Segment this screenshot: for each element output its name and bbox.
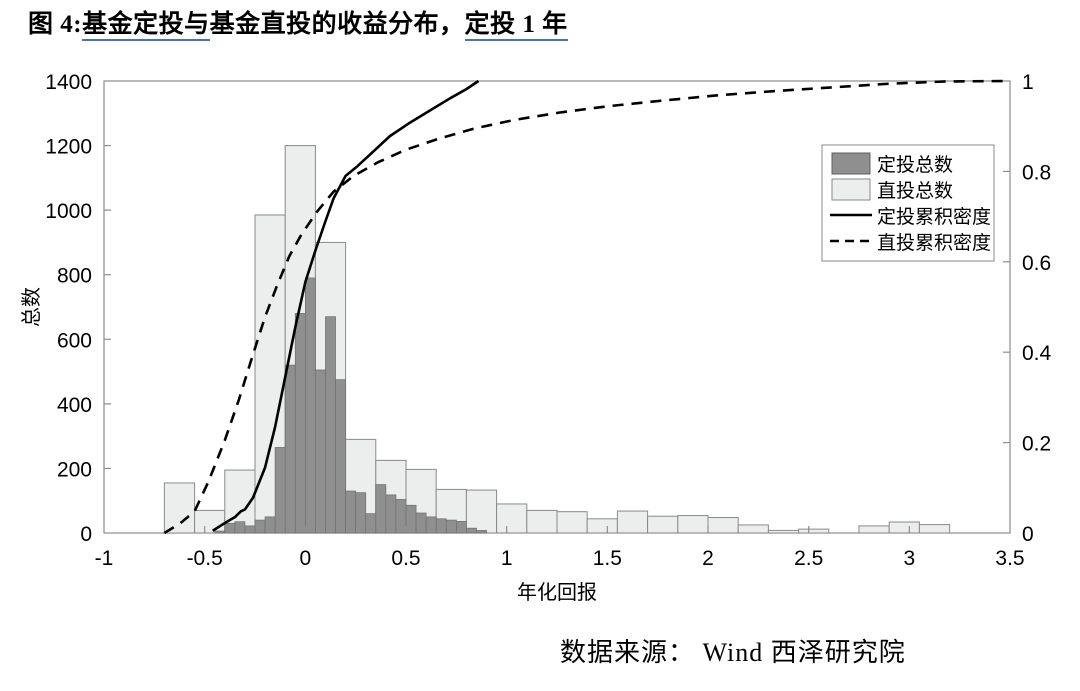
distribution-chart: -1-0.500.511.522.533.5020040060080010001… bbox=[0, 52, 1080, 612]
x-axis-label: 年化回报 bbox=[517, 581, 597, 604]
histogram-bar-light bbox=[587, 519, 617, 533]
x-tick-label: 3.5 bbox=[995, 547, 1024, 570]
legend-label-3: 定投累积密度 bbox=[877, 206, 991, 228]
source-footer: 数据来源： Wind 西泽研究院 bbox=[560, 632, 906, 669]
histogram-bar-light bbox=[678, 516, 708, 533]
histogram-bar-light bbox=[708, 518, 738, 533]
histogram-bar-dark bbox=[255, 520, 265, 533]
x-tick-label: 1 bbox=[501, 547, 513, 570]
legend-label-1: 定投总数 bbox=[877, 154, 953, 176]
histogram-bar-light bbox=[738, 525, 768, 533]
histogram-bar-light bbox=[195, 510, 225, 533]
histogram-bar-light bbox=[919, 525, 949, 533]
y-tick-label: 600 bbox=[57, 329, 92, 352]
y2-tick-label: 0.2 bbox=[1022, 433, 1051, 456]
histogram-bar-light bbox=[799, 529, 829, 533]
y-tick-label: 800 bbox=[57, 265, 92, 288]
figure-title-prefix: 图 4: bbox=[28, 11, 82, 38]
histogram-bar-dark bbox=[325, 317, 335, 533]
y2-tick-label: 0.8 bbox=[1022, 161, 1051, 184]
histogram-bar-dark bbox=[456, 521, 466, 533]
histogram-bar-dark bbox=[315, 370, 325, 533]
histogram-bar-dark bbox=[285, 365, 295, 533]
y2-tick-label: 1 bbox=[1022, 71, 1034, 94]
histogram-bar-light bbox=[859, 526, 889, 533]
y-tick-label: 1400 bbox=[45, 71, 92, 94]
y-axis-label: 总数 bbox=[20, 287, 43, 327]
y2-tick-label: 0.4 bbox=[1022, 342, 1052, 365]
histogram-bar-light bbox=[164, 483, 194, 533]
x-tick-label: 2 bbox=[702, 547, 714, 570]
histogram-bar-dark bbox=[476, 530, 486, 533]
x-tick-label: -0.5 bbox=[187, 547, 223, 570]
histogram-bar-dark bbox=[346, 491, 356, 533]
histogram-bar-light bbox=[648, 516, 678, 533]
histogram-bar-dark bbox=[416, 513, 426, 533]
y-tick-label: 400 bbox=[57, 394, 92, 417]
legend-swatch-1 bbox=[832, 153, 870, 174]
histogram-bar-dark bbox=[295, 313, 305, 533]
figure-title: 图 4:基金定投与基金直投的收益分布，定投 1 年 bbox=[28, 4, 568, 40]
x-tick-label: 1.5 bbox=[593, 547, 622, 570]
histogram-bar-light bbox=[527, 510, 557, 533]
histogram-bar-light bbox=[617, 511, 647, 533]
histogram-bar-light bbox=[557, 512, 587, 533]
x-tick-label: -1 bbox=[95, 547, 114, 570]
figure-title-seg3: 定投 1 年 bbox=[465, 11, 568, 41]
histogram-bar-dark bbox=[336, 380, 346, 533]
y2-tick-label: 0.6 bbox=[1022, 252, 1051, 275]
histogram-bar-dark bbox=[305, 278, 315, 533]
x-tick-label: 0 bbox=[299, 547, 311, 570]
histogram-bar-dark bbox=[376, 485, 386, 533]
chart-container: -1-0.500.511.522.533.5020040060080010001… bbox=[0, 52, 1080, 612]
figure-title-seg1: 基金定投与 bbox=[82, 11, 210, 41]
histogram-bar-light bbox=[497, 504, 527, 533]
histogram-bar-dark bbox=[225, 523, 235, 533]
histogram-bar-dark bbox=[436, 519, 446, 533]
histogram-bar-dark bbox=[396, 499, 406, 533]
histogram-bar-dark bbox=[275, 447, 285, 533]
histogram-bar-light bbox=[889, 522, 919, 533]
x-tick-label: 0.5 bbox=[391, 547, 420, 570]
y-tick-label: 0 bbox=[80, 523, 92, 546]
histogram-bar-light bbox=[768, 530, 798, 533]
histogram-bar-dark bbox=[356, 493, 366, 533]
histogram-bar-dark bbox=[386, 495, 396, 533]
histogram-bar-light bbox=[466, 490, 496, 533]
y-tick-label: 200 bbox=[57, 458, 92, 481]
histogram-bar-dark bbox=[265, 517, 275, 533]
y-tick-label: 1000 bbox=[45, 200, 92, 223]
histogram-bar-dark bbox=[235, 522, 245, 533]
histogram-bar-dark bbox=[245, 526, 255, 533]
histogram-bar-dark bbox=[406, 505, 416, 533]
x-tick-label: 2.5 bbox=[794, 547, 823, 570]
x-tick-label: 3 bbox=[903, 547, 915, 570]
legend-swatch-2 bbox=[832, 179, 870, 200]
histogram-bar-dark bbox=[215, 531, 225, 533]
legend-label-2: 直投总数 bbox=[877, 180, 953, 202]
histogram-bar-dark bbox=[366, 514, 376, 533]
histogram-bar-dark bbox=[446, 520, 456, 533]
figure-title-seg2: 基金直投的收益分布， bbox=[210, 11, 465, 38]
legend-label-4: 直投累积密度 bbox=[877, 232, 991, 254]
histogram-bar-dark bbox=[466, 528, 476, 533]
histogram-bar-dark bbox=[426, 517, 436, 533]
y2-tick-label: 0 bbox=[1022, 523, 1034, 546]
y-tick-label: 1200 bbox=[45, 136, 92, 159]
